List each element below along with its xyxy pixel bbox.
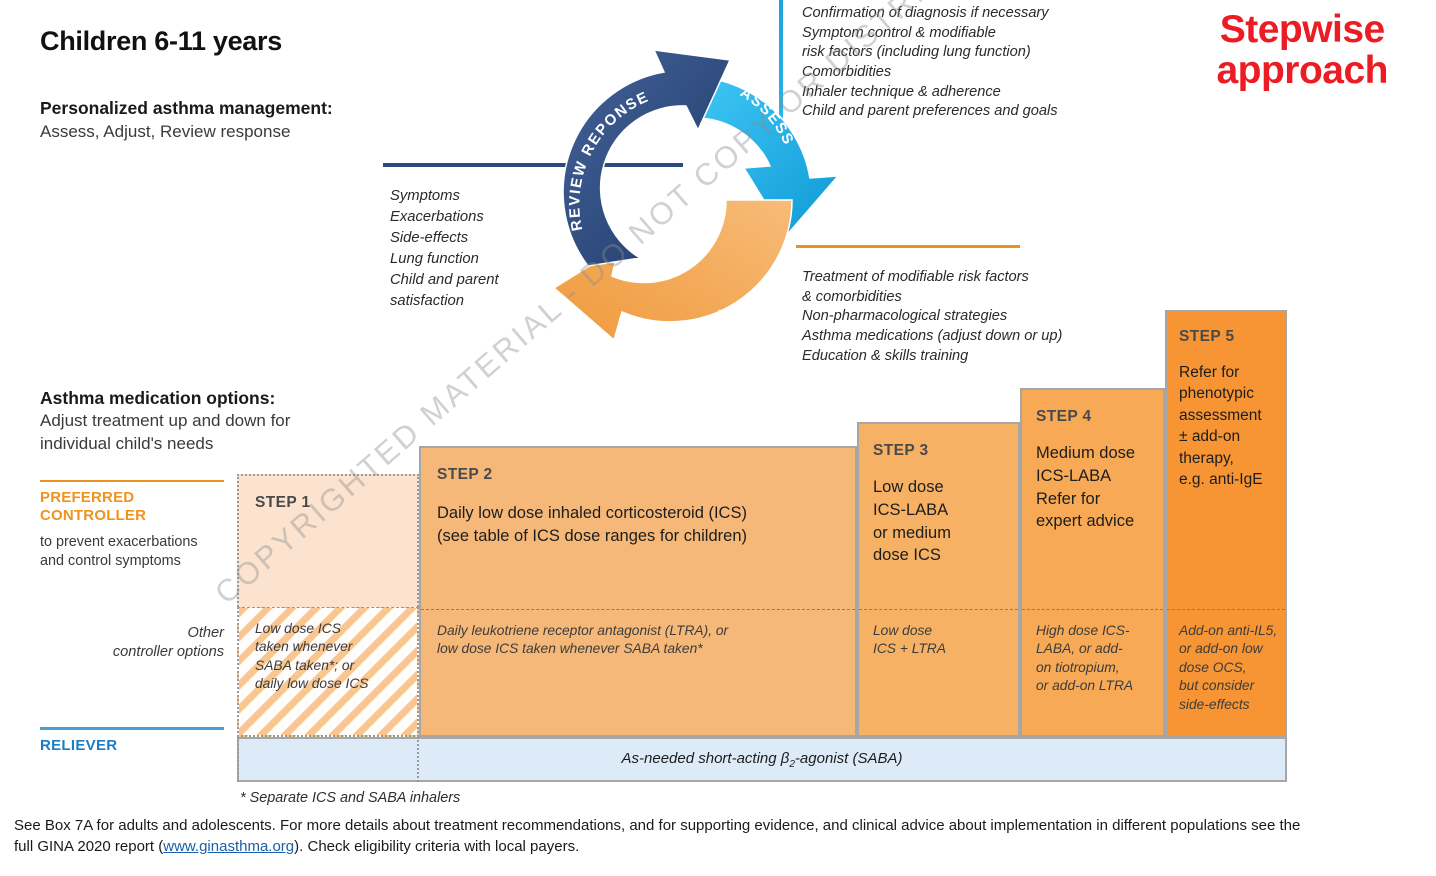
review-item: satisfaction — [390, 291, 499, 312]
step-2-body-line: (see table of ICS dose ranges for childr… — [437, 525, 841, 548]
footnote: * Separate ICS and SABA inhalers — [240, 790, 460, 806]
step-column-5[interactable]: STEP 5 Refer for phenotypic assessment ±… — [1165, 310, 1287, 737]
page-title: Children 6-11 years — [40, 26, 282, 57]
step-5-other-line: side-effects — [1179, 696, 1281, 714]
step-3-body-line: Low dose — [873, 476, 1008, 499]
step-5-other-line: but consider — [1179, 677, 1281, 695]
step-3-body-line: ICS-LABA — [873, 499, 1008, 522]
step-2-other-cell: Daily leukotriene receptor antagonist (L… — [421, 609, 855, 739]
step-1-main-cell: STEP 1 — [237, 474, 419, 607]
step-3-body-line: dose ICS — [873, 544, 1008, 567]
adjust-item: Treatment of modifiable risk factors — [802, 268, 1062, 288]
step-5-body-line: phenotypic — [1179, 383, 1279, 404]
step-4-other-line: LABA, or add- — [1036, 640, 1157, 658]
assess-item: Comorbidities — [802, 63, 1058, 83]
step-column-4[interactable]: STEP 4 Medium dose ICS-LABA Refer for ex… — [1020, 388, 1165, 737]
step-4-other-line: High dose ICS- — [1036, 622, 1157, 640]
step-1-label: STEP 1 — [255, 494, 403, 512]
review-item: Child and parent — [390, 270, 499, 291]
stepwise-line-1: Stepwise — [1216, 10, 1388, 51]
preferred-controller-label: PREFERRED CONTROLLER — [40, 489, 146, 526]
step-5-body-line: e.g. anti-IgE — [1179, 469, 1279, 490]
other-label-line-1: Other — [40, 624, 224, 643]
assess-list: Confirmation of diagnosis if necessary S… — [802, 4, 1058, 122]
step-4-body-line: expert advice — [1036, 510, 1155, 533]
step-5-body-line: ± add-on — [1179, 426, 1279, 447]
step-4-body-line: Refer for — [1036, 488, 1155, 511]
step-5-body-line: Refer for — [1179, 362, 1279, 383]
ginasthma-link[interactable]: www.ginasthma.org — [163, 838, 294, 855]
step-2-other-line: low dose ICS taken whenever SABA taken* — [437, 640, 845, 658]
step-4-main-cell: STEP 4 Medium dose ICS-LABA Refer for ex… — [1022, 390, 1163, 609]
step-3-main-cell: STEP 3 Low dose ICS-LABA or medium dose … — [859, 424, 1018, 609]
reliever-text-part-1: As-needed short-acting β — [622, 750, 790, 767]
assess-item: Symptom control & modifiable — [802, 24, 1058, 44]
preferred-controller-line-2: CONTROLLER — [40, 507, 146, 525]
step-4-other-cell: High dose ICS- LABA, or add- on tiotropi… — [1022, 609, 1163, 739]
step-3-other-line: Low dose — [873, 622, 1010, 640]
step-3-label: STEP 3 — [873, 442, 1008, 460]
personalized-management-heading: Personalized asthma management: — [40, 98, 333, 119]
step-5-body: Refer for phenotypic assessment ± add-on… — [1179, 362, 1279, 490]
step-5-label: STEP 5 — [1179, 328, 1279, 346]
management-cycle-diagram: ASSESS ADJUST REVIEW REPONSE — [548, 50, 838, 350]
assess-item: Confirmation of diagnosis if necessary — [802, 4, 1058, 24]
preferred-controller-rule — [40, 480, 224, 482]
footer-note: See Box 7A for adults and adolescents. F… — [14, 816, 1314, 857]
personalized-management-subtext: Assess, Adjust, Review response — [40, 122, 290, 142]
review-item: Symptoms — [390, 186, 499, 207]
other-controller-options-label: Other controller options — [40, 624, 224, 663]
assess-item: Child and parent preferences and goals — [802, 102, 1058, 122]
reliever-bar[interactable]: As-needed short-acting β2-agonist (SABA) — [237, 737, 1287, 782]
step-2-body-line: Daily low dose inhaled corticosteroid (I… — [437, 502, 841, 525]
step-1-other-line: Low dose ICS — [255, 620, 407, 638]
step-3-other-line: ICS + LTRA — [873, 640, 1010, 658]
step-column-1[interactable]: STEP 1 Low dose ICS taken whenever SABA … — [237, 474, 419, 737]
step-2-body: Daily low dose inhaled corticosteroid (I… — [437, 502, 841, 548]
reliever-bar-text: As-needed short-acting β2-agonist (SABA) — [622, 750, 903, 770]
step-4-other-line: on tiotropium, — [1036, 659, 1157, 677]
step-1-other-line: taken whenever — [255, 638, 407, 656]
step-1-other-line: SABA taken*; or — [255, 657, 407, 675]
step-2-label: STEP 2 — [437, 466, 841, 484]
review-item: Exacerbations — [390, 207, 499, 228]
step-4-other-line: or add-on LTRA — [1036, 677, 1157, 695]
step-5-body-line: assessment — [1179, 405, 1279, 426]
review-response-list: Symptoms Exacerbations Side-effects Lung… — [390, 186, 499, 312]
stepwise-line-2: approach — [1216, 51, 1388, 92]
other-label-line-2: controller options — [40, 643, 224, 662]
step-2-other-line: Daily leukotriene receptor antagonist (L… — [437, 622, 845, 640]
step-1-other-line: daily low dose ICS — [255, 675, 407, 693]
step-3-body-line: or medium — [873, 522, 1008, 545]
preferred-controller-description: to prevent exacerbations and control sym… — [40, 533, 198, 571]
step-5-main-cell: STEP 5 Refer for phenotypic assessment ±… — [1167, 312, 1285, 609]
review-item: Lung function — [390, 249, 499, 270]
step-4-label: STEP 4 — [1036, 408, 1155, 426]
reliever-text-part-2: -agonist (SABA) — [795, 750, 903, 767]
step-5-other-line: Add-on anti-IL5, — [1179, 622, 1281, 640]
preferred-desc-line-2: and control symptoms — [40, 552, 198, 571]
step-5-other-cell: Add-on anti-IL5, or add-on low dose OCS,… — [1167, 609, 1285, 739]
assess-item: risk factors (including lung function) — [802, 43, 1058, 63]
footer-part-2: ). Check eligibility criteria with local… — [294, 838, 579, 855]
step-5-other-line: or add-on low — [1179, 640, 1281, 658]
reliever-rule — [40, 727, 224, 730]
step-3-other-cell: Low dose ICS + LTRA — [859, 609, 1018, 739]
step-column-2[interactable]: STEP 2 Daily low dose inhaled corticoste… — [419, 446, 857, 737]
review-item: Side-effects — [390, 228, 499, 249]
stepwise-chart: STEP 1 Low dose ICS taken whenever SABA … — [237, 310, 1287, 775]
adjust-item: & comorbidities — [802, 288, 1062, 308]
step-4-body: Medium dose ICS-LABA Refer for expert ad… — [1036, 442, 1155, 533]
stepwise-approach-title: Stepwise approach — [1216, 10, 1388, 91]
step-4-body-line: Medium dose — [1036, 442, 1155, 465]
assess-item: Inhaler technique & adherence — [802, 83, 1058, 103]
step-4-body-line: ICS-LABA — [1036, 465, 1155, 488]
reliever-label: RELIEVER — [40, 737, 117, 754]
step-3-body: Low dose ICS-LABA or medium dose ICS — [873, 476, 1008, 567]
step-column-3[interactable]: STEP 3 Low dose ICS-LABA or medium dose … — [857, 422, 1020, 737]
step-1-other-cell: Low dose ICS taken whenever SABA taken*;… — [237, 607, 419, 737]
step-2-main-cell: STEP 2 Daily low dose inhaled corticoste… — [421, 448, 855, 609]
step-5-body-line: therapy, — [1179, 448, 1279, 469]
preferred-controller-line-1: PREFERRED — [40, 489, 146, 507]
step-5-other-line: dose OCS, — [1179, 659, 1281, 677]
preferred-desc-line-1: to prevent exacerbations — [40, 533, 198, 552]
